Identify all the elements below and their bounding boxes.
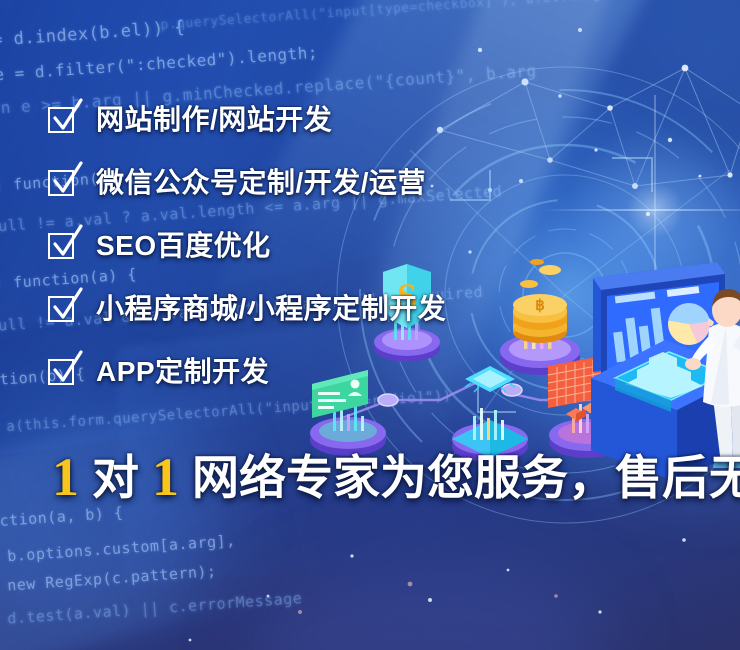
headline-number-first: 1 [48, 450, 83, 504]
checklist-label: 微信公众号定制/开发/运营 [96, 169, 426, 197]
checkbox-checked-icon[interactable] [48, 168, 78, 198]
checkbox-checked-icon[interactable] [48, 231, 78, 261]
service-checklist: 网站制作/网站开发 微信公众号定制/开发/运营 SEO百度优化 小程序商城/小程… [48, 96, 708, 411]
checklist-label: 网站制作/网站开发 [96, 106, 332, 134]
promo-banner: p.querySelectorAll("input[type=checkbox]… [0, 0, 740, 650]
checklist-label: 小程序商城/小程序定制开发 [96, 295, 446, 323]
checklist-item-1[interactable]: 微信公众号定制/开发/运营 [48, 159, 708, 207]
checklist-item-0[interactable]: 网站制作/网站开发 [48, 96, 708, 144]
headline-word-dui: 对 [92, 454, 139, 501]
checklist-label: SEO百度优化 [96, 232, 271, 260]
checklist-item-4[interactable]: APP定制开发 [48, 348, 708, 396]
headline-tail: 网络专家为您服务，售后无忧！ [192, 454, 740, 501]
headline-number-second: 1 [148, 450, 183, 504]
promo-headline: 1 对 1 网络专家为您服务，售后无忧！ [48, 450, 740, 504]
checkbox-checked-icon[interactable] [48, 357, 78, 387]
checkbox-checked-icon[interactable] [48, 105, 78, 135]
checkbox-checked-icon[interactable] [48, 294, 78, 324]
checklist-item-3[interactable]: 小程序商城/小程序定制开发 [48, 285, 708, 333]
checklist-item-2[interactable]: SEO百度优化 [48, 222, 708, 270]
checklist-label: APP定制开发 [96, 358, 269, 386]
